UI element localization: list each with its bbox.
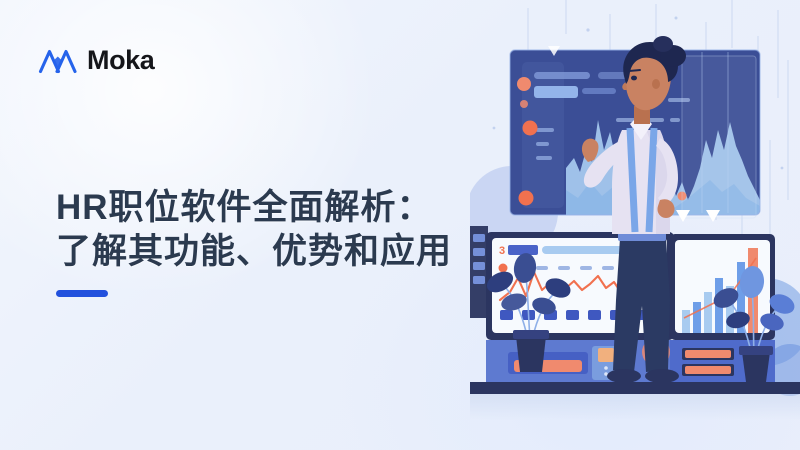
moka-mountain-mark-icon (38, 46, 78, 74)
floor-shadow (470, 394, 800, 420)
svg-text:3: 3 (499, 245, 505, 257)
brand-wordmark: Moka (87, 47, 154, 74)
desk-surface (470, 382, 800, 394)
left-rack (470, 226, 488, 318)
glass-overlay-panel (682, 56, 756, 218)
headline-line-1: HR职位软件全面解析： (56, 186, 452, 230)
marketing-banner: Moka HR职位软件全面解析： 了解其功能、优势和应用 (0, 0, 800, 450)
accent-bar (56, 290, 108, 297)
brand-logo[interactable]: Moka (38, 40, 154, 80)
headline-line-2: 了解其功能、优势和应用 (56, 230, 452, 274)
hr-analytics-dashboard-illustration: 3 (470, 0, 800, 450)
headline-block: HR职位软件全面解析： 了解其功能、优势和应用 (56, 186, 452, 297)
